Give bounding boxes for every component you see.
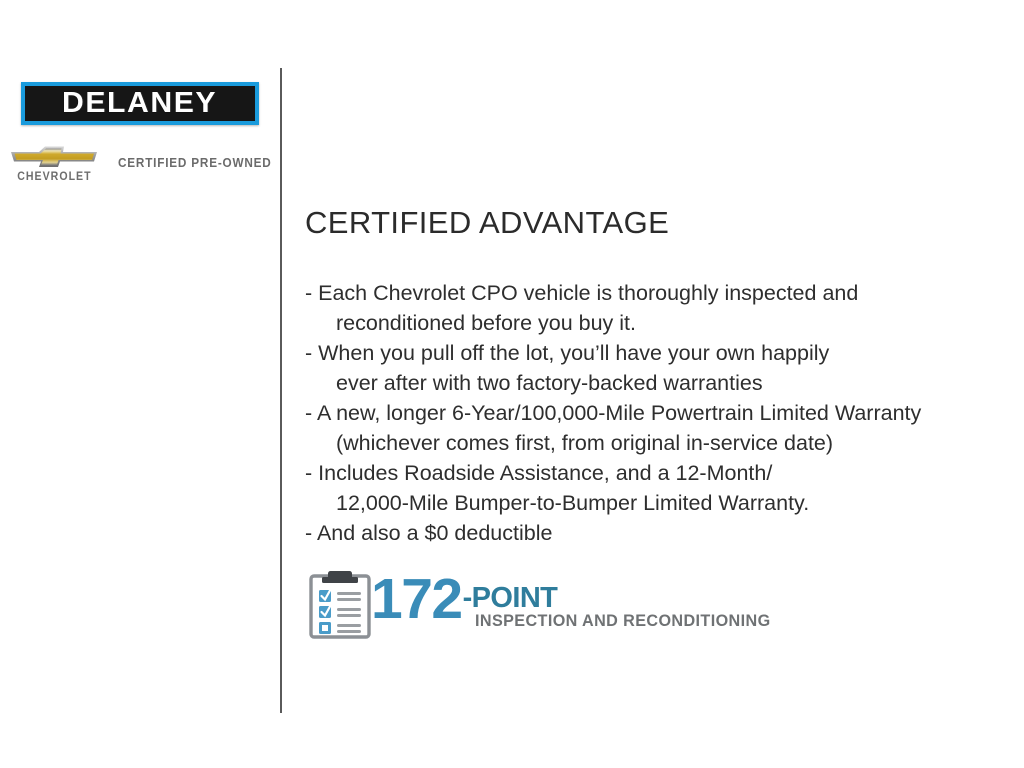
certified-pre-owned-lockup: CHEVROLET CERTIFIED PRE-OWNED (10, 145, 272, 193)
chevrolet-bowtie-icon (10, 145, 98, 168)
list-item-line: - When you pull off the lot, you’ll have… (305, 338, 1020, 368)
inspection-subtitle: INSPECTION AND RECONDITIONING (475, 613, 771, 630)
inspection-wordmark: 172 -POINT INSPECTION AND RECONDITIONING (371, 571, 761, 641)
dealer-logo-plate: DELANEY (25, 86, 255, 121)
list-item: - A new, longer 6-Year/100,000-Mile Powe… (305, 398, 1020, 458)
inspection-point-suffix: -POINT (463, 584, 558, 613)
certified-pre-owned-label: CERTIFIED PRE-OWNED (118, 157, 272, 170)
list-item-line: 12,000-Mile Bumper-to-Bumper Limited War… (305, 488, 1020, 518)
list-item-line: - Includes Roadside Assistance, and a 12… (305, 458, 1020, 488)
list-item-line: - Each Chevrolet CPO vehicle is thorough… (305, 278, 1020, 308)
brand-column: DELANEY (0, 0, 280, 768)
clipboard-checklist-icon (307, 570, 373, 640)
chevrolet-brand-block: CHEVROLET (10, 145, 98, 184)
inspection-badge: 172 -POINT INSPECTION AND RECONDITIONING (307, 570, 757, 642)
column-divider (280, 68, 282, 713)
list-item-line: reconditioned before you buy it. (305, 308, 1020, 338)
certified-advantage-list: - Each Chevrolet CPO vehicle is thorough… (305, 278, 1020, 548)
chevrolet-wordmark: CHEVROLET (17, 172, 91, 184)
inspection-point-count: 172 (371, 571, 462, 628)
list-item: - Each Chevrolet CPO vehicle is thorough… (305, 278, 1020, 338)
list-item-line: - And also a $0 deductible (305, 518, 1020, 548)
list-item: - And also a $0 deductible (305, 518, 1020, 548)
list-item-line: ever after with two factory-backed warra… (305, 368, 1020, 398)
list-item-line: (whichever comes first, from original in… (305, 428, 1020, 458)
list-item-line: - A new, longer 6-Year/100,000-Mile Powe… (305, 398, 1020, 428)
content-column: CERTIFIED ADVANTAGE - Each Chevrolet CPO… (305, 0, 1020, 768)
page-title: CERTIFIED ADVANTAGE (305, 207, 669, 238)
dealer-logo: DELANEY (21, 82, 259, 125)
dealer-name-wordmark: DELANEY (62, 89, 217, 118)
list-item: - When you pull off the lot, you’ll have… (305, 338, 1020, 398)
list-item: - Includes Roadside Assistance, and a 12… (305, 458, 1020, 518)
